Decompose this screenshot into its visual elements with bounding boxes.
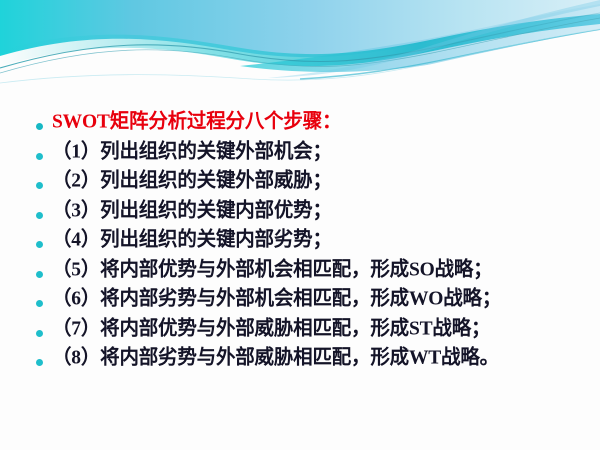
list-item-label: （3）列出组织的关键内部优势； xyxy=(52,201,332,221)
bullet-dot-icon xyxy=(36,300,43,307)
list-item-label: （6）将内部劣势与外部机会相匹配，形成WO战略； xyxy=(52,289,501,309)
bullet-dot-icon xyxy=(36,271,43,278)
bullet-dot-icon xyxy=(36,182,43,189)
bullet-dot-icon xyxy=(36,212,43,219)
list-item: （1）列出组织的关键外部机会； xyxy=(36,142,576,172)
list-item-label: （1）列出组织的关键外部机会； xyxy=(52,142,332,162)
list-item: （6）将内部劣势与外部机会相匹配，形成WO战略； xyxy=(36,289,576,319)
list-item: （5）将内部优势与外部机会相匹配，形成SO战略； xyxy=(36,260,576,290)
list-item-label: （4）列出组织的关键内部劣势； xyxy=(52,230,332,250)
bullet-dot-icon xyxy=(36,359,43,366)
list-item-label: （8）将内部劣势与外部威胁相匹配，形成WT战略。 xyxy=(52,348,499,368)
list-item: （2）列出组织的关键外部威胁； xyxy=(36,171,576,201)
list-item-label: （7）将内部优势与外部威胁相匹配，形成ST战略； xyxy=(52,319,490,339)
wave-ribbon-icon xyxy=(0,0,600,92)
list-item-label: （2）列出组织的关键外部威胁； xyxy=(52,171,332,191)
list-item: （7）将内部优势与外部威胁相匹配，形成ST战略； xyxy=(36,319,576,349)
list-item: （4）列出组织的关键内部劣势； xyxy=(36,230,576,260)
header-wave-decoration xyxy=(0,0,600,92)
bullet-dot-icon xyxy=(36,241,43,248)
slide-canvas: SWOT矩阵分析过程分八个步骤： （1）列出组织的关键外部机会； （2）列出组织… xyxy=(0,0,600,450)
bullet-dot-icon xyxy=(36,123,43,130)
bullet-list: SWOT矩阵分析过程分八个步骤： （1）列出组织的关键外部机会； （2）列出组织… xyxy=(36,112,576,378)
list-item-label: （5）将内部优势与外部机会相匹配，形成SO战略； xyxy=(52,260,492,280)
list-item: SWOT矩阵分析过程分八个步骤： xyxy=(36,112,576,142)
list-item-label: SWOT矩阵分析过程分八个步骤： xyxy=(52,112,341,132)
bullet-dot-icon xyxy=(36,330,43,337)
list-item: （3）列出组织的关键内部优势； xyxy=(36,201,576,231)
bullet-dot-icon xyxy=(36,153,43,160)
list-item: （8）将内部劣势与外部威胁相匹配，形成WT战略。 xyxy=(36,348,576,378)
